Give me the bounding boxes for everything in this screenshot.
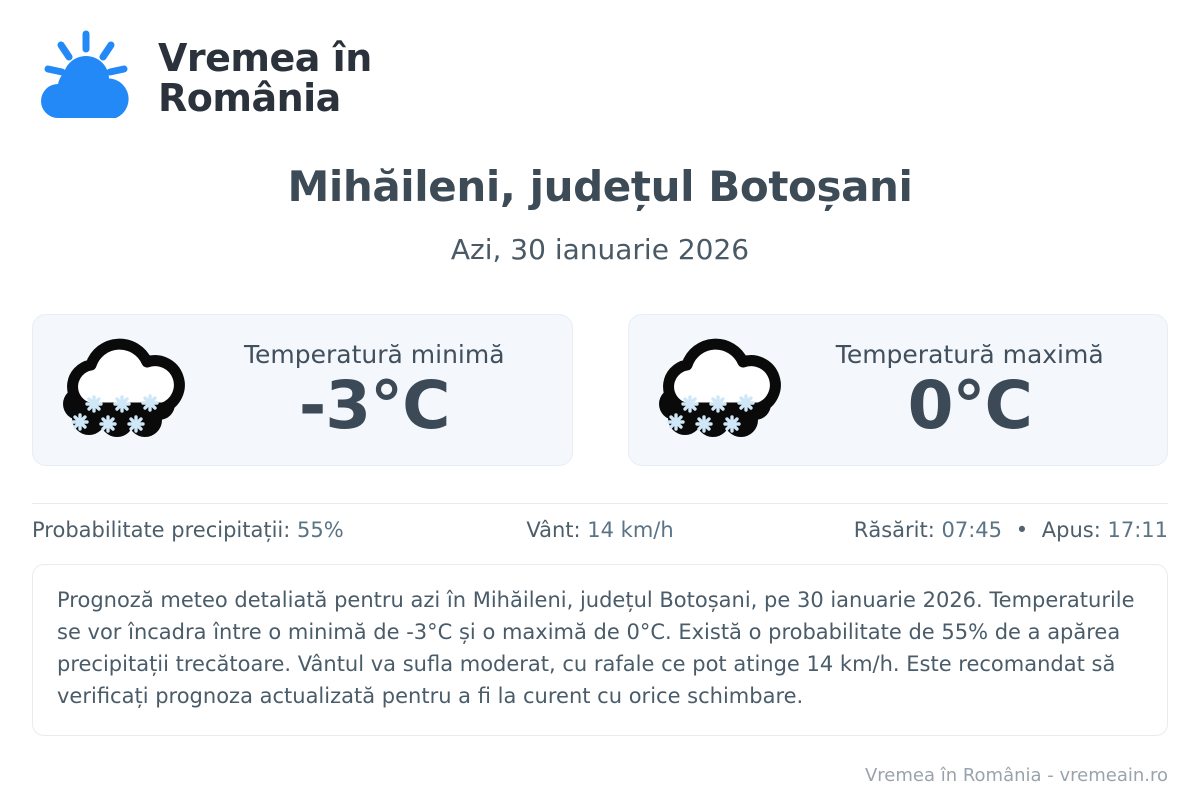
wind-label: Vânt: — [526, 518, 580, 542]
card-min-value: -3°C — [195, 372, 554, 439]
sunrise-label: Răsărit: — [854, 518, 935, 542]
card-min-body: Temperatură minimă -3°C — [195, 341, 562, 440]
brand-name: Vremea în România — [158, 38, 372, 119]
card-max-value: 0°C — [791, 372, 1150, 439]
card-max-temperature: Temperatură maximă 0°C — [628, 314, 1169, 466]
page-subtitle: Azi, 30 ianuarie 2026 — [32, 233, 1168, 266]
card-max-body: Temperatură maximă 0°C — [791, 341, 1158, 440]
sunset-value: 17:11 — [1107, 518, 1168, 542]
sunset-label: Apus: — [1042, 518, 1101, 542]
detail-sun: Răsărit: 07:45 • Apus: 17:11 — [789, 518, 1168, 542]
temperature-cards: Temperatură minimă -3°C — [32, 314, 1168, 466]
brand-header: Vremea în România — [32, 0, 1168, 110]
wind-value: 14 km/h — [587, 518, 673, 542]
divider — [32, 503, 1168, 504]
footer-credit: Vremea în România - vremeain.ro — [865, 765, 1168, 786]
sunrise-value: 07:45 — [941, 518, 1002, 542]
card-min-temperature: Temperatură minimă -3°C — [32, 314, 573, 466]
snow-cloud-icon — [55, 330, 195, 450]
card-min-label: Temperatură minimă — [195, 341, 554, 369]
precipitation-value: 55% — [297, 518, 344, 542]
detail-precipitation: Probabilitate precipitații: 55% — [32, 518, 411, 542]
precipitation-label: Probabilitate precipitații: — [32, 518, 290, 542]
detail-row: Probabilitate precipitații: 55% Vânt: 14… — [32, 518, 1168, 542]
card-max-label: Temperatură maximă — [791, 341, 1150, 369]
page-title: Mihăileni, județul Botoșani — [32, 162, 1168, 211]
snow-cloud-icon — [651, 330, 791, 450]
forecast-description: Prognoză meteo detaliată pentru azi în M… — [32, 564, 1168, 736]
sun-cloud-icon — [32, 28, 140, 128]
sun-separator: • — [1009, 518, 1035, 542]
weather-page: Vremea în România Mihăileni, județul Bot… — [0, 0, 1200, 800]
detail-wind: Vânt: 14 km/h — [411, 518, 790, 542]
